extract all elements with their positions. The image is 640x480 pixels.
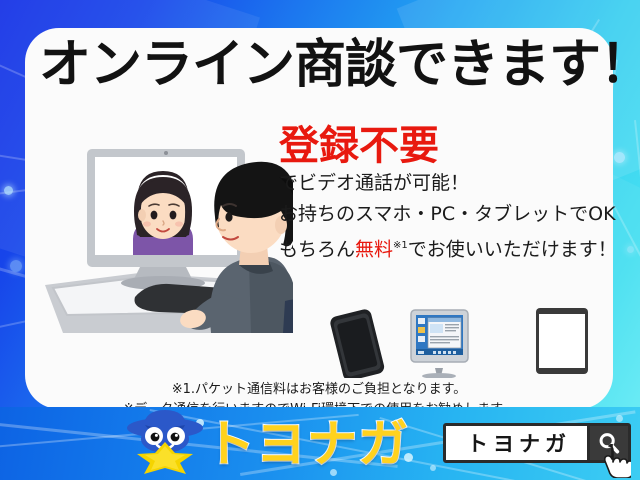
no-registration-headline: 登録不要 — [279, 124, 609, 168]
promo-line-3-prefix: もちろん — [279, 238, 355, 260]
advertisement-banner: オンライン商談できます！ — [0, 0, 640, 480]
search-input[interactable]: トヨナガ — [443, 423, 595, 463]
content-panel: オンライン商談できます！ — [25, 28, 613, 409]
pointer-hand-icon — [601, 444, 631, 478]
search-input-value: トヨナガ — [467, 428, 571, 458]
brand-logo-text: トヨナガ — [205, 416, 409, 472]
promo-line-3: もちろん無料※1でお使いいただけます！ — [279, 230, 609, 265]
promo-line-2: お持ちのスマホ・PC・タブレットでOK — [279, 199, 609, 230]
page-title: オンライン商談できます！ — [39, 34, 599, 96]
promo-line-1: でビデオ通話が可能！ — [279, 168, 609, 199]
desktop-pc-icon — [411, 310, 468, 378]
footnote-1: ※1.パケット通信料はお客様のご負担となります。 — [25, 380, 613, 400]
tablet-icon — [536, 308, 588, 374]
video-call-illustration — [43, 133, 293, 348]
smartphone-icon — [329, 308, 386, 378]
promo-text-block: 登録不要 でビデオ通話が可能！ お持ちのスマホ・PC・タブレットでOK もちろん… — [279, 124, 609, 265]
footnote-marker: ※1 — [393, 240, 408, 251]
device-icon-row — [307, 306, 607, 378]
toyonaga-star-mascot — [123, 408, 208, 474]
free-highlight: 無料 — [355, 238, 393, 260]
promo-line-3-suffix: でお使いいただけます！ — [408, 238, 617, 260]
